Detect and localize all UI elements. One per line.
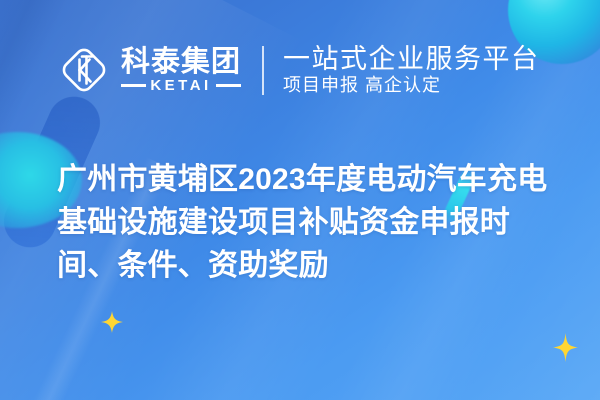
brand-name-cn: 科泰集团 [121, 48, 241, 77]
tagline-secondary: 项目申报 高企认定 [283, 76, 540, 95]
promo-banner: 科泰集团 KETAI 一站式企业服务平台 项目申报 高企认定 广州市黄埔区202… [0, 0, 600, 400]
page-title: 广州市黄埔区2023年度电动汽车充电基础设施建设项目补贴资金申报时间、条件、资助… [57, 158, 557, 287]
wordmark-rule-left [121, 84, 146, 87]
sparkle-star-icon [101, 311, 123, 333]
vertical-divider-icon [262, 46, 264, 95]
brand-wordmark: 科泰集团 KETAI [121, 48, 241, 93]
brand-name-en-row: KETAI [121, 78, 241, 93]
ketai-diamond-kt-monogram-icon [56, 42, 112, 98]
wordmark-rule-right [216, 84, 241, 87]
tagline-primary: 一站式企业服务平台 [283, 45, 540, 73]
banner-header: 科泰集团 KETAI 一站式企业服务平台 项目申报 高企认定 [0, 0, 600, 140]
brand-logo[interactable]: 科泰集团 KETAI [56, 42, 241, 98]
brand-name-en: KETAI [150, 78, 211, 93]
sparkle-star-icon [553, 333, 578, 362]
tagline-block: 一站式企业服务平台 项目申报 高企认定 [283, 45, 540, 95]
